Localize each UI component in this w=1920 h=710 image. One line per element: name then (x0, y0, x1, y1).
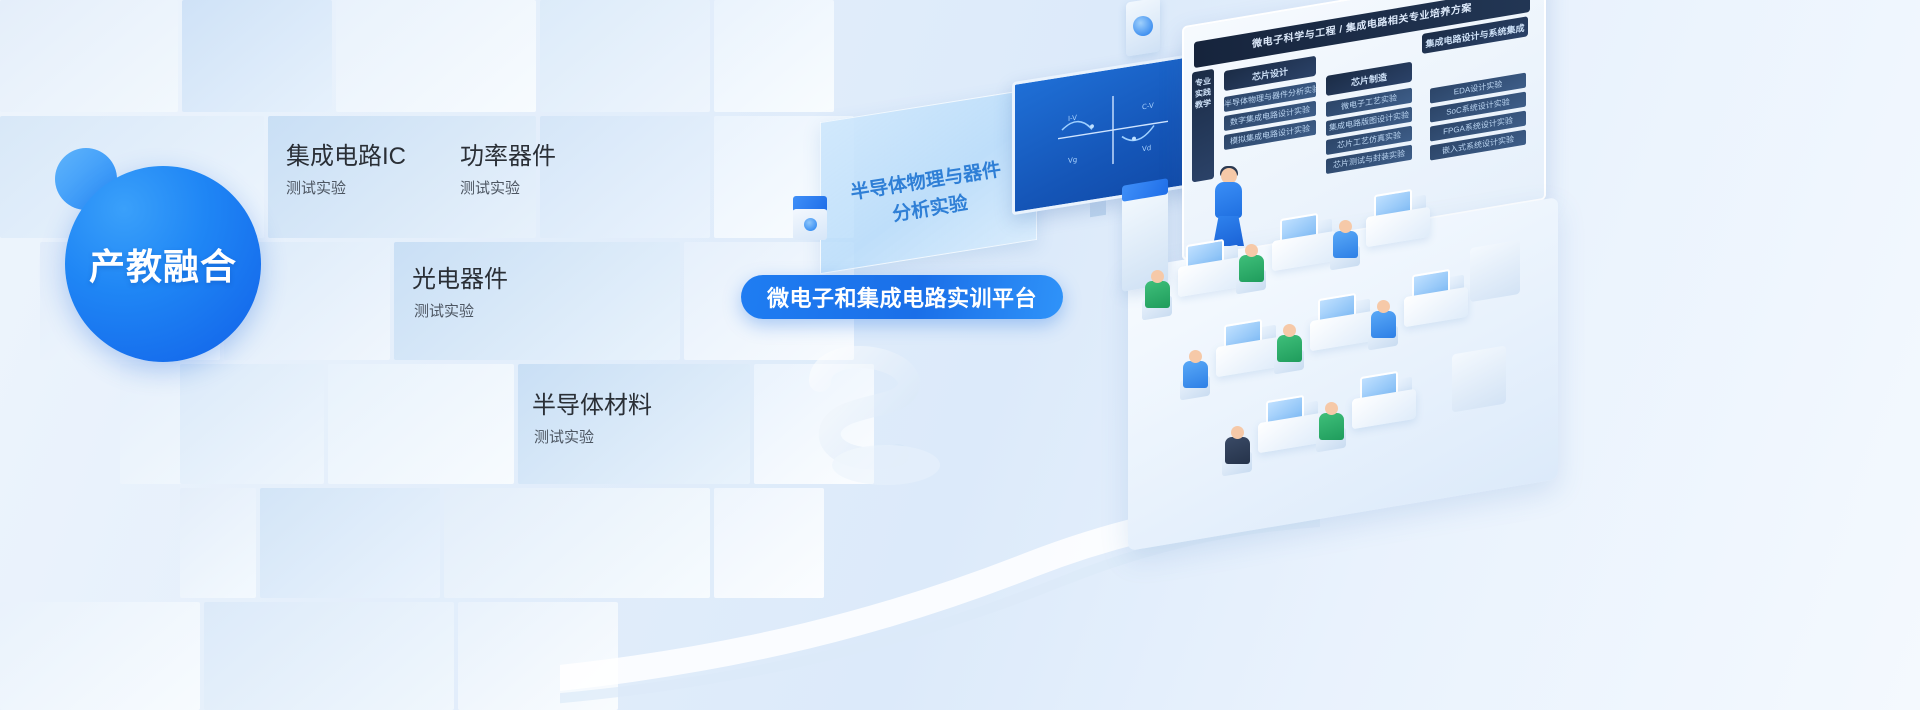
svg-text:C-V: C-V (1142, 101, 1154, 112)
student-body (1319, 413, 1344, 440)
badge-label: 产教融合 (65, 166, 261, 362)
projector-cube-icon (793, 196, 827, 240)
student-head (1339, 220, 1352, 233)
bg-tile (182, 0, 332, 112)
side-cabinet (1452, 345, 1506, 412)
bg-tile (180, 364, 324, 484)
student-head (1189, 350, 1202, 363)
label-title: 半导体材料 (532, 392, 652, 420)
student-head (1245, 244, 1258, 257)
label-title: 光电器件 (412, 266, 508, 294)
bg-tile (540, 116, 710, 238)
bg-tile (336, 0, 536, 112)
student-body (1145, 281, 1170, 308)
label-group-optoelectronic[interactable]: 光电器件 测试实验 (412, 266, 508, 321)
bg-tile (714, 0, 834, 112)
student-body (1277, 335, 1302, 362)
label-group-ic[interactable]: 集成电路IC 测试实验 (286, 143, 406, 198)
label-subtitle: 测试实验 (414, 303, 508, 321)
label-subtitle: 测试实验 (534, 429, 652, 447)
bg-tile (540, 0, 710, 112)
svg-text:Vg: Vg (1068, 155, 1077, 165)
student-head (1325, 402, 1338, 415)
bg-tile (204, 602, 454, 710)
student-body (1183, 361, 1208, 388)
label-subtitle: 测试实验 (460, 180, 556, 198)
label-group-power-device[interactable]: 功率器件 测试实验 (460, 143, 556, 198)
label-title: 功率器件 (460, 143, 556, 171)
bg-tile (0, 0, 178, 112)
student-head (1151, 270, 1164, 283)
label-title: 集成电路IC (286, 143, 406, 171)
board-side-label: 专业实践教学 (1192, 75, 1214, 112)
svg-text:Vd: Vd (1142, 143, 1151, 153)
camera-lens-icon (1133, 16, 1153, 36)
bg-tile (260, 488, 440, 598)
student-body (1333, 231, 1358, 258)
platform-cta-pill[interactable]: 微电子和集成电路实训平台 (741, 275, 1063, 319)
student-body (1239, 255, 1264, 282)
banner-stage: 产教融合 集成电路IC 测试实验 功率器件 测试实验 光电器件 测试实验 半导体… (0, 0, 1920, 710)
student-head (1283, 324, 1296, 337)
label-subtitle: 测试实验 (286, 180, 406, 198)
student-head (1231, 426, 1244, 439)
teacher-body (1215, 182, 1242, 218)
student-head (1377, 300, 1390, 313)
student-body (1371, 311, 1396, 338)
student-body (1225, 437, 1250, 464)
brand-badge[interactable]: 产教融合 (55, 148, 270, 363)
svg-text:I-V: I-V (1068, 113, 1077, 123)
s-ribbon-decoration (790, 345, 970, 495)
bg-tile (328, 364, 514, 484)
side-cabinet (1470, 240, 1520, 302)
classroom-illustration (1000, 200, 1560, 530)
platform-cta-label: 微电子和集成电路实训平台 (767, 281, 1037, 313)
bg-tile (0, 602, 200, 710)
label-group-semiconductor-material[interactable]: 半导体材料 测试实验 (532, 392, 652, 447)
bg-tile (180, 488, 256, 598)
lens-dot (804, 218, 817, 231)
